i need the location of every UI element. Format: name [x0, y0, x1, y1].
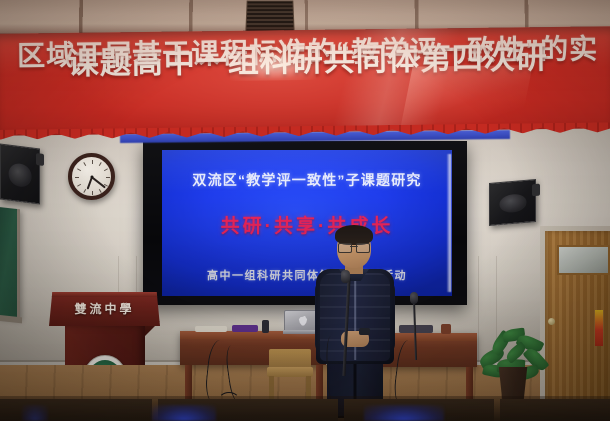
speaker-cone — [499, 194, 526, 214]
desk-item-folder — [232, 325, 258, 332]
slide-slogan: 共研·共享·共成长 — [162, 211, 452, 238]
clock-minute-hand — [91, 176, 105, 188]
green-chalkboard — [0, 207, 20, 320]
wall-speaker-right — [489, 179, 536, 226]
door-window-pane — [557, 245, 610, 275]
door-decor-strip — [595, 310, 603, 346]
projection-slide: 双流区“教学评一致性”子课题研究 共研·共享·共成长 高中一组科研共同体第四次研… — [162, 150, 452, 296]
slide-footer: 高中一组科研共同体第四次研讨活动 — [162, 267, 452, 283]
microphone-head-secondary — [410, 292, 418, 304]
screen-reflection — [22, 405, 48, 421]
presenter-hair — [335, 225, 373, 245]
lectern-top: 雙流中學 — [49, 292, 160, 326]
school-name-plate: 雙流中學 — [49, 300, 160, 317]
red-overhead-banner: 区域开展基于课程标准的“教学评一致性”的实 课题高中一组科研共同体第四次研 — [0, 26, 610, 136]
microphone-head — [341, 270, 350, 283]
screen-reflection — [364, 405, 444, 421]
presenter — [313, 228, 397, 418]
photo-scene: 双流区“教学评一致性”子课题研究 共研·共享·共成长 高中一组科研共同体第四次研… — [0, 0, 610, 421]
wall-clock — [68, 153, 115, 200]
audience-desk — [500, 399, 610, 421]
desk-item-cup — [441, 324, 451, 334]
apple-logo-icon — [299, 316, 308, 326]
door-knob-icon[interactable] — [548, 318, 555, 325]
potted-plant — [477, 325, 551, 405]
screen-reflection — [152, 405, 216, 421]
desk-item-paper — [195, 326, 227, 332]
speaker-cone — [9, 162, 32, 187]
banner-line-2: 课题高中一组科研共同体第四次研 — [0, 41, 610, 80]
eyeglasses-icon — [338, 243, 370, 251]
wristwatch — [359, 328, 370, 335]
projection-screen: 双流区“教学评一致性”子课题研究 共研·共享·共成长 高中一组科研共同体第四次研… — [143, 141, 467, 305]
wall-speaker-left — [0, 144, 40, 205]
slide-title: 双流区“教学评一致性”子课题研究 — [162, 170, 452, 190]
desk-item-bottle — [262, 320, 269, 333]
screen-edge-glint — [447, 154, 451, 292]
